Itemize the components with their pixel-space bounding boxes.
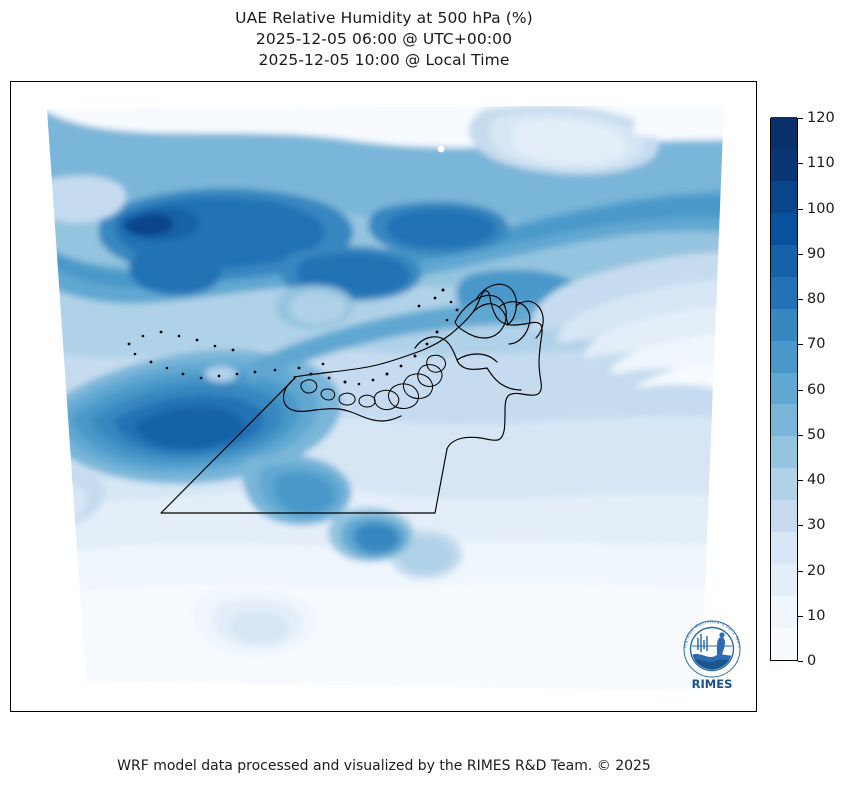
colorbar-tick-label: 20	[807, 563, 825, 579]
colorbar-tick	[798, 163, 803, 164]
colorbar-tick-label: 0	[807, 653, 816, 669]
colorbar-tick	[798, 118, 803, 119]
colorbar-tick	[798, 571, 803, 572]
colorbar-band	[771, 564, 797, 596]
colorbar-tick	[798, 299, 803, 300]
colorbar-band	[771, 628, 797, 660]
figure-canvas: UAE Relative Humidity at 500 hPa (%) 202…	[0, 0, 844, 788]
map-plot-area	[11, 82, 756, 711]
colorbar-tick-label: 120	[807, 110, 835, 126]
colorbar-band	[771, 213, 797, 245]
title-line-utc-time: 2025-12-05 06:00 @ UTC+00:00	[0, 29, 768, 50]
colorbar[interactable]: 0102030405060708090100110120	[770, 118, 798, 661]
colorbar-band	[771, 532, 797, 564]
footer-credit: WRF model data processed and visualized …	[0, 758, 768, 774]
colorbar-tick-label: 100	[807, 201, 835, 217]
colorbar-tick-label: 10	[807, 608, 825, 624]
colorbar-band	[771, 373, 797, 405]
colorbar-band	[771, 468, 797, 500]
colorbar-tick	[798, 344, 803, 345]
colorbar-band	[771, 117, 797, 149]
colorbar-tick-label: 80	[807, 291, 825, 307]
colorbar-tick	[798, 435, 803, 436]
colorbar-tick-label: 70	[807, 336, 825, 352]
chart-title: UAE Relative Humidity at 500 hPa (%) 202…	[0, 8, 768, 71]
colorbar-band	[771, 404, 797, 436]
colorbar-band	[771, 277, 797, 309]
colorbar-tick-label: 60	[807, 382, 825, 398]
contour-field	[11, 82, 756, 711]
colorbar-band	[771, 436, 797, 468]
colorbar-tick-label: 40	[807, 472, 825, 488]
colorbar-tick	[798, 390, 803, 391]
colorbar-band	[771, 245, 797, 277]
colorbar-band	[771, 149, 797, 181]
logo-acronym: RIMES	[692, 677, 733, 691]
colorbar-band	[771, 500, 797, 532]
colorbar-tick	[798, 616, 803, 617]
map-axes-frame[interactable]	[10, 81, 757, 712]
title-line-variable: UAE Relative Humidity at 500 hPa (%)	[0, 8, 768, 29]
colorbar-tick-label: 110	[807, 155, 835, 171]
colorbar-band	[771, 181, 797, 213]
colorbar-tick	[798, 525, 803, 526]
colorbar-tick-label: 50	[807, 427, 825, 443]
city-marker	[438, 146, 445, 153]
colorbar-tick	[798, 661, 803, 662]
colorbar-tick-label: 90	[807, 246, 825, 262]
colorbar-tick	[798, 254, 803, 255]
colorbar-gradient	[770, 118, 798, 661]
colorbar-band	[771, 341, 797, 373]
title-line-local-time: 2025-12-05 10:00 @ Local Time	[0, 50, 768, 71]
colorbar-tick	[798, 209, 803, 210]
colorbar-band	[771, 309, 797, 341]
colorbar-tick	[798, 480, 803, 481]
colorbar-tick-label: 30	[807, 517, 825, 533]
rimes-logo: Regional Integrated Multi-Hazard Early W…	[679, 616, 745, 692]
colorbar-band	[771, 596, 797, 628]
